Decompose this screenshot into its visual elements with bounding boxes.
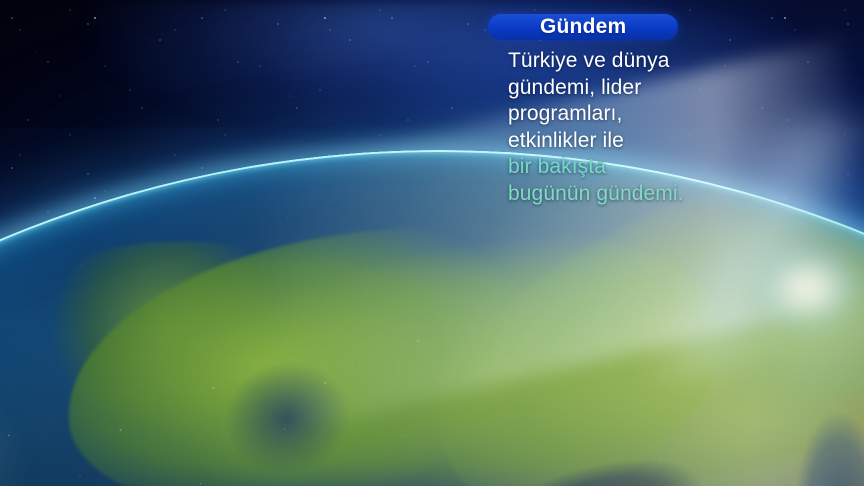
description-line-5: bir bakışta [508, 154, 828, 181]
description-line-4: etkinlikler ile [508, 128, 828, 155]
description-text: Türkiye ve dünya gündemi, lider programl… [508, 48, 828, 207]
description-line-3: programları, [508, 101, 828, 128]
gundem-badge: Gündem [488, 14, 678, 40]
description-line-6: bugünün gündemi. [508, 181, 828, 208]
description-line-2: gündemi, lider [508, 75, 828, 102]
banner-root: Gündem Türkiye ve dünya gündemi, lider p… [0, 0, 864, 486]
text-overlay: Gündem Türkiye ve dünya gündemi, lider p… [488, 14, 828, 207]
description-line-1: Türkiye ve dünya [508, 48, 828, 75]
